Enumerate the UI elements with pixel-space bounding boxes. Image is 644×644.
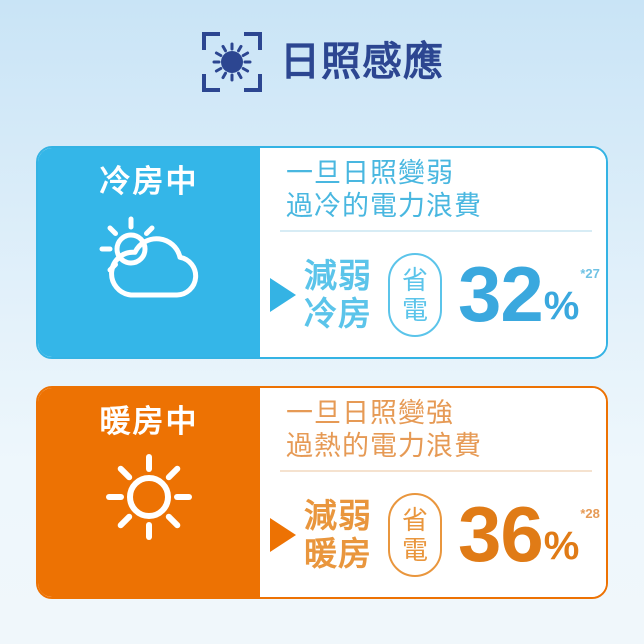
sun-icon [89,449,209,545]
heating-mode-label: 暖房中 [100,406,199,437]
cooling-condition-line1: 一旦日照變弱 [286,157,606,190]
cooling-save-power-badge: 省 電 [388,253,442,337]
cooling-action-line1: 減弱 [304,257,372,295]
cooling-badge-line1: 省 [402,265,428,295]
page-title: 日照感應 [280,42,444,82]
sunlight-frame-icon [200,30,264,94]
cooling-card: 冷房中 一旦日照變弱 過冷的電力浪費 [36,146,608,359]
cooling-mode-panel: 冷房中 [38,148,260,357]
heating-condition-line2: 過熱的電力浪費 [286,430,606,463]
heating-action-line2: 暖房 [304,535,372,573]
cooling-saving-stat: 32 % *27 [458,261,600,328]
cooling-condition: 一旦日照變弱 過冷的電力浪費 [260,148,606,230]
sun-behind-cloud-icon [89,209,209,305]
heating-action: 減弱 暖房 [304,497,372,573]
heating-card: 暖房中 一旦 [36,386,608,599]
heating-condition: 一旦日照變強 過熱的電力浪費 [260,388,606,470]
cooling-action-line2: 冷房 [304,295,372,333]
cooling-result-row: 減弱 冷房 省 電 32 % *27 [260,232,606,357]
heating-footnote: *28 [580,507,600,520]
cooling-footnote: *27 [580,267,600,280]
heating-saving-value: 36 [458,501,543,568]
heating-saving-unit: % [544,526,580,566]
heating-badge-line1: 省 [402,505,428,535]
heating-mode-panel: 暖房中 [38,388,260,597]
heating-condition-line1: 一旦日照變強 [286,397,606,430]
heating-saving-stat: 36 % *28 [458,501,600,568]
cooling-action: 減弱 冷房 [304,257,372,333]
infographic-stage: 日照感應 冷房中 一旦日照 [0,0,644,644]
cooling-mode-label: 冷房中 [100,166,199,197]
heating-save-power-badge: 省 電 [388,493,442,577]
cooling-condition-line2: 過冷的電力浪費 [286,190,606,223]
cooling-badge-line2: 電 [402,295,428,325]
cooling-saving-unit: % [544,286,580,326]
heating-action-line1: 減弱 [304,497,372,535]
cooling-saving-value: 32 [458,261,543,328]
heating-badge-line2: 電 [402,535,428,565]
page-header: 日照感應 [0,26,644,98]
heating-result-row: 減弱 暖房 省 電 36 % *28 [260,472,606,597]
heating-detail-panel: 一旦日照變強 過熱的電力浪費 減弱 暖房 省 電 36 % *28 [260,388,606,597]
play-triangle-icon [270,278,296,312]
play-triangle-icon [270,518,296,552]
cooling-detail-panel: 一旦日照變弱 過冷的電力浪費 減弱 冷房 省 電 32 % *27 [260,148,606,357]
